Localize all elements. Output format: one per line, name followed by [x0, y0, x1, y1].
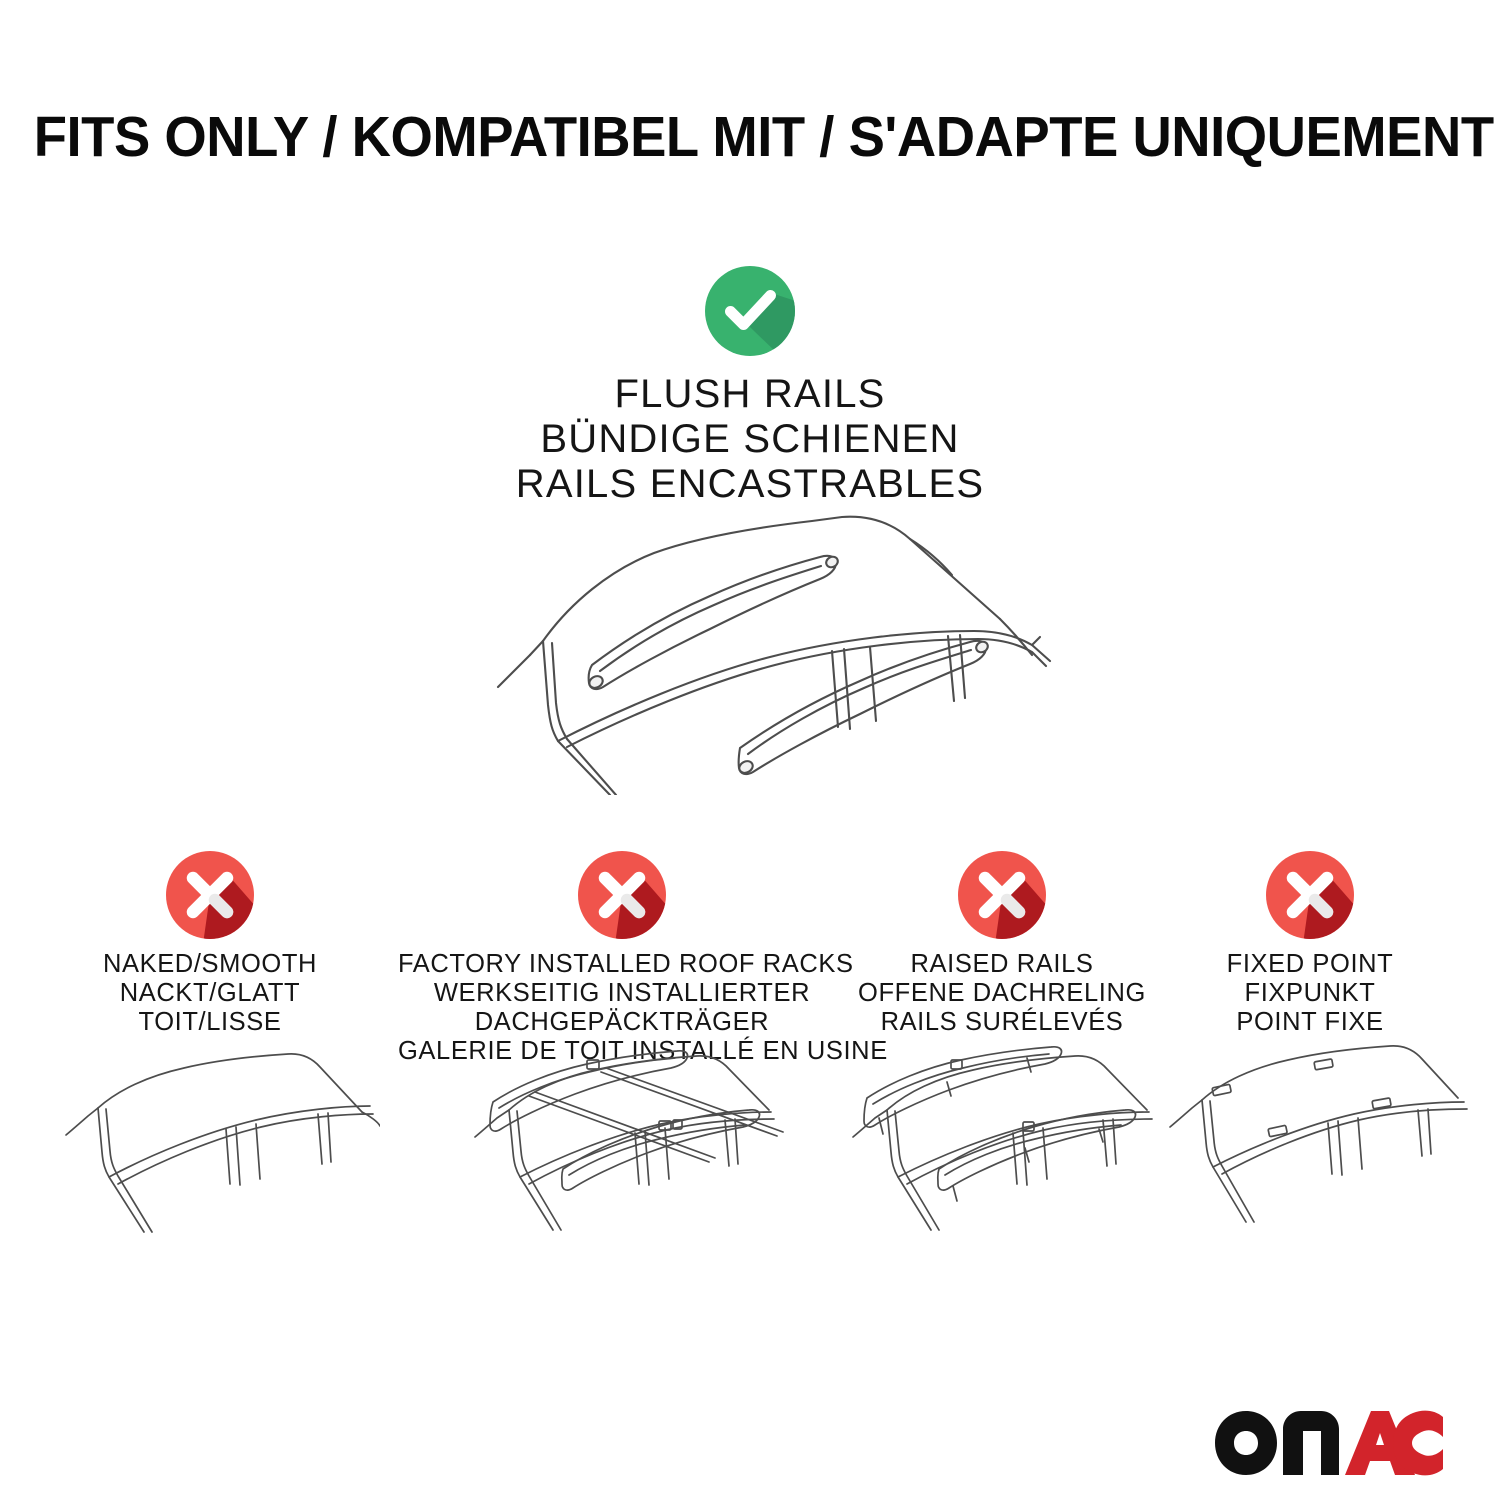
label-de: FIXPUNKT: [1160, 979, 1460, 1008]
car-roof-raised-rails-illustration: [827, 1036, 1177, 1281]
x-circle-icon: [575, 848, 669, 942]
compatible-labels: FLUSH RAILS BÜNDIGE SCHIENEN RAILS ENCAS…: [0, 372, 1500, 507]
infographic-page: FITS ONLY / KOMPATIBEL MIT / S'ADAPTE UN…: [0, 0, 1500, 1500]
car-roof-naked-smooth-illustration: [40, 1046, 380, 1281]
label-en: RAISED RAILS: [846, 950, 1158, 979]
incompatible-labels: NAKED/SMOOTH NACKT/GLATT TOIT/LISSE: [35, 950, 385, 1037]
compatible-section: FLUSH RAILS BÜNDIGE SCHIENEN RAILS ENCAS…: [0, 262, 1500, 507]
car-roof-factory-installed-roof-racks-illustration: [447, 1036, 797, 1281]
label-fr: RAILS SURÉLEVÉS: [846, 1008, 1158, 1037]
incompatible-section: NAKED/SMOOTH NACKT/GLATT TOIT/LISSE: [0, 848, 1500, 1328]
car-roof-fixed-point-illustration: [1150, 1040, 1470, 1275]
label-fr: POINT FIXE: [1160, 1008, 1460, 1037]
incompatible-item-factory-roof-racks: FACTORY INSTALLED ROOF RACKS WERKSEITIG …: [398, 848, 846, 1066]
label-en: NAKED/SMOOTH: [35, 950, 385, 979]
compatible-label-en: FLUSH RAILS: [0, 372, 1500, 417]
label-de-1: WERKSEITIG INSTALLIERTER: [398, 979, 846, 1008]
page-title: FITS ONLY / KOMPATIBEL MIT / S'ADAPTE UN…: [34, 104, 1467, 170]
compatible-label-de: BÜNDIGE SCHIENEN: [0, 417, 1500, 462]
incompatible-labels: RAISED RAILS OFFENE DACHRELING RAILS SUR…: [846, 950, 1158, 1037]
omac-logo: [1213, 1409, 1445, 1477]
incompatible-labels: FIXED POINT FIXPUNKT POINT FIXE: [1160, 950, 1460, 1037]
incompatible-item-raised-rails: RAISED RAILS OFFENE DACHRELING RAILS SUR…: [846, 848, 1158, 1037]
label-en: FIXED POINT: [1160, 950, 1460, 979]
incompatible-item-fixed-point: FIXED POINT FIXPUNKT POINT FIXE: [1160, 848, 1460, 1037]
label-de-2: DACHGEPÄCKTRÄGER: [398, 1008, 846, 1037]
x-circle-icon: [163, 848, 257, 942]
label-de: OFFENE DACHRELING: [846, 979, 1158, 1008]
label-en: FACTORY INSTALLED ROOF RACKS: [398, 950, 846, 979]
label-fr: TOIT/LISSE: [35, 1008, 385, 1037]
x-circle-icon: [955, 848, 1049, 942]
car-roof-with-flush-rails-illustration: [440, 495, 1080, 795]
incompatible-item-naked-smooth: NAKED/SMOOTH NACKT/GLATT TOIT/LISSE: [35, 848, 385, 1037]
label-de: NACKT/GLATT: [35, 979, 385, 1008]
x-circle-icon: [1263, 848, 1357, 942]
check-circle-icon: [701, 262, 799, 360]
